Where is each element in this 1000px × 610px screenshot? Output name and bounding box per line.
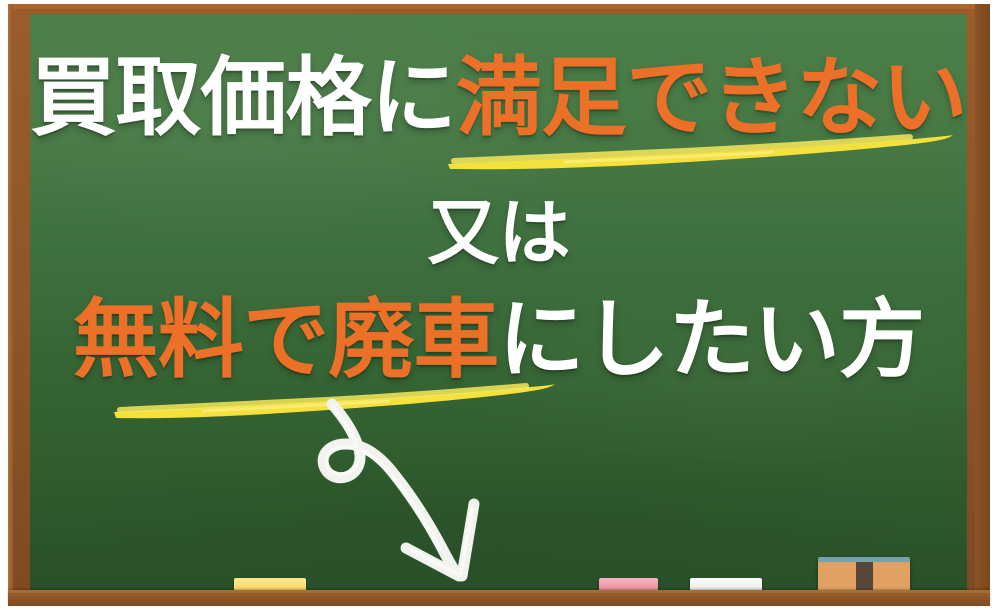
blackboard-eraser (818, 557, 910, 593)
headline-block: 買取価格に満足できない 又は 無料で廃車にしたい方 (30, 14, 967, 590)
frame-right-shadow (975, 4, 990, 596)
chalk-tray-lip (8, 590, 990, 593)
headline-line-3-segment-1: 無料で廃車 (73, 290, 499, 390)
headline-line-1-segment-1: 買取価格に (30, 48, 456, 148)
headline-line-2-segment-1: 又は (427, 191, 570, 275)
headline-line-1: 買取価格に満足できない (30, 50, 967, 146)
eraser-center-band (856, 562, 873, 593)
frame-left-highlight (8, 4, 13, 596)
frame-top-highlight (8, 4, 990, 9)
headline-line-3-segment-2: にしたい方 (499, 290, 925, 390)
headline-line-2: 又は (30, 192, 967, 274)
blackboard-banner: 買取価格に満足できない 又は 無料で廃車にしたい方 (0, 0, 1000, 610)
headline-line-1-segment-2: 満足できない (456, 48, 967, 148)
headline-line-3: 無料で廃車にしたい方 (30, 292, 967, 388)
